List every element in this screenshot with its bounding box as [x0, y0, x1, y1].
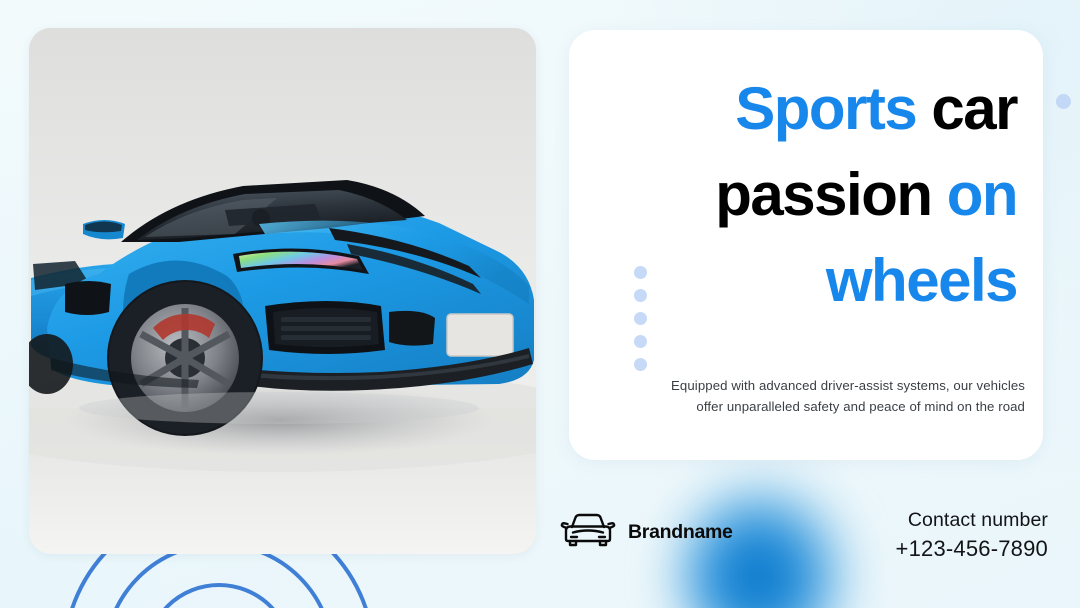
stack-dot-3 — [634, 312, 647, 325]
contact-block: Contact number +123-456-7890 — [896, 506, 1048, 564]
stack-dot-5 — [634, 358, 647, 371]
car-photo — [29, 28, 536, 554]
stack-dot-1 — [634, 266, 647, 279]
headline-word-wheels: wheels — [826, 247, 1017, 314]
decorative-dot-stack — [634, 266, 647, 371]
brand-lockup[interactable]: Brandname — [560, 510, 733, 555]
headline-word-sports: Sports — [735, 75, 916, 142]
headline-word-passion: passion — [715, 161, 931, 228]
subcopy-text: Equipped with advanced driver-assist sys… — [655, 375, 1025, 417]
page-title: Sports car passion on wheels — [597, 66, 1017, 324]
brand-name-label: Brandname — [628, 521, 733, 544]
contact-number-value[interactable]: +123-456-7890 — [896, 534, 1048, 564]
headline-word-car: car — [931, 75, 1017, 142]
car-front-icon — [560, 510, 616, 555]
headline-card: Sports car passion on wheels Equipped wi… — [569, 30, 1043, 460]
car-photo-illustration — [29, 28, 536, 554]
contact-title-label: Contact number — [896, 506, 1048, 534]
decorative-dot-right — [1056, 94, 1071, 109]
stack-dot-2 — [634, 289, 647, 302]
stack-dot-4 — [634, 335, 647, 348]
headline-word-on: on — [947, 161, 1017, 228]
